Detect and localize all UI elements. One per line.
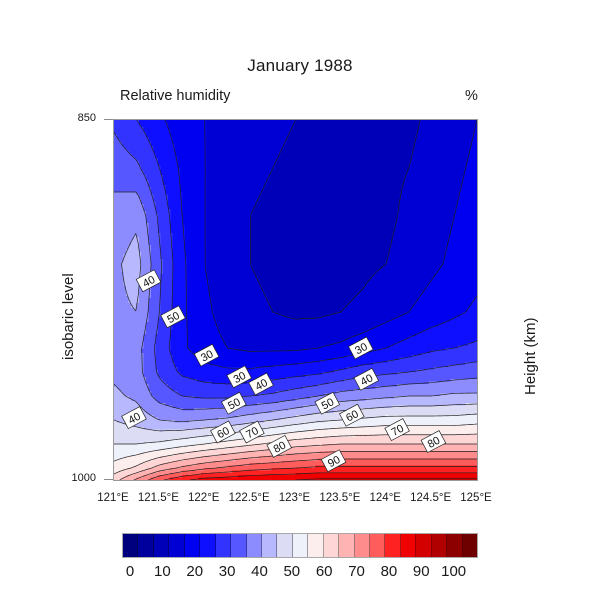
- colorbar-cell: [401, 534, 416, 557]
- colorbar[interactable]: [122, 533, 478, 558]
- subtitle-left: Relative humidity: [120, 88, 230, 104]
- colorbar-cell: [138, 534, 153, 557]
- colorbar-cell: [123, 534, 138, 557]
- colorbar-cell: [385, 534, 400, 557]
- subtitle-units: %: [465, 88, 478, 104]
- colorbar-cell: [154, 534, 169, 557]
- colorbar-cell: [447, 534, 462, 557]
- colorbar-cell: [339, 534, 354, 557]
- colorbar-cell: [185, 534, 200, 557]
- colorbar-cell: [231, 534, 246, 557]
- colorbar-cell: [432, 534, 447, 557]
- colorbar-cell: [216, 534, 231, 557]
- colorbar-cell: [324, 534, 339, 557]
- colorbar-tick-label: 100: [429, 563, 479, 580]
- colorbar-cell: [262, 534, 277, 557]
- contour-plot[interactable]: 4050303040304050405060607070808090: [113, 119, 478, 481]
- colorbar-cell: [416, 534, 431, 557]
- y-axis-title-right: Height (km): [522, 317, 539, 395]
- y-axis-tick: [104, 119, 113, 120]
- colorbar-cell: [247, 534, 262, 557]
- y-axis-tick-label: 1000: [56, 472, 96, 484]
- colorbar-cell: [277, 534, 292, 557]
- colorbar-cell: [463, 534, 477, 557]
- contour-fill-group: [114, 120, 477, 480]
- colorbar-cell: [355, 534, 370, 557]
- colorbar-cell: [169, 534, 184, 557]
- colorbar-cell: [370, 534, 385, 557]
- y-axis-tick: [104, 479, 113, 480]
- x-axis-tick-label: 125°E: [446, 492, 506, 504]
- contour-canvas: 4050303040304050405060607070808090: [114, 120, 477, 480]
- colorbar-cell: [293, 534, 308, 557]
- page-title: January 1988: [0, 56, 600, 76]
- y-axis-tick-label: 850: [56, 112, 96, 124]
- colorbar-cell: [308, 534, 323, 557]
- colorbar-cell: [200, 534, 215, 557]
- y-axis-title-left: isobaric level: [60, 273, 77, 360]
